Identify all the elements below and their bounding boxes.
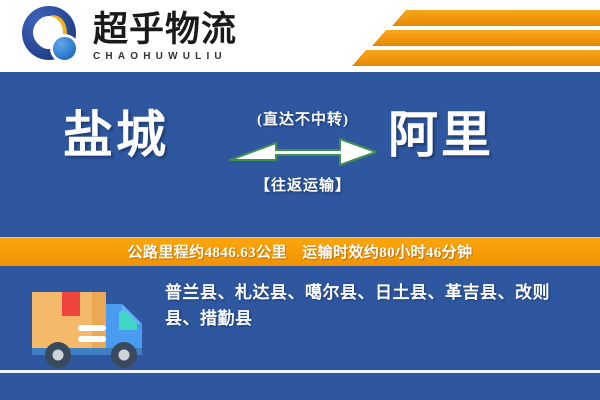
logistics-route-banner: 超乎物流 CHAOHUWULIU 盐城 (直达不中转) 【往返运输】 阿里 (0, 0, 600, 400)
bottom-divider (0, 370, 600, 373)
delivery-truck-icon (26, 278, 154, 370)
destination-city-name: 阿里 (388, 110, 494, 160)
double-headed-arrow-icon (228, 135, 378, 169)
company-logo: 超乎物流 CHAOHUWULIU (22, 6, 237, 68)
banner-body: 盐城 (直达不中转) 【往返运输】 阿里 公路里程约4846.63公里 运输时效… (0, 72, 600, 400)
route-row: 盐城 (直达不中转) 【往返运输】 阿里 (0, 72, 600, 237)
company-name-pinyin: CHAOHUWULIU (93, 51, 237, 62)
header-stripe-middle (372, 30, 600, 46)
origin-city-name: 盐城 (63, 110, 169, 160)
distance-duration-text: 公路里程约4846.63公里 运输时效约80小时46分钟 (128, 241, 473, 262)
roundtrip-note: 【往返运输】 (228, 174, 378, 195)
coverage-area: 普兰县、札达县、噶尔县、日土县、革吉县、改则县、措勤县 (0, 266, 600, 400)
chaohu-circle-logo-icon (22, 6, 84, 68)
route-middle-group: (直达不中转) 【往返运输】 (228, 108, 378, 195)
header-stripe-bottom (352, 50, 600, 66)
header-stripe-top (392, 10, 600, 26)
banner-header: 超乎物流 CHAOHUWULIU (0, 0, 600, 72)
covered-counties-list: 普兰县、札达县、噶尔县、日土县、革吉县、改则县、措勤县 (165, 280, 583, 331)
logo-accent-dot-icon (53, 37, 76, 60)
distance-duration-bar: 公路里程约4846.63公里 运输时效约80小时46分钟 (0, 237, 600, 266)
logo-wordmark: 超乎物流 CHAOHUWULIU (93, 12, 237, 62)
direct-shipping-note: (直达不中转) (228, 108, 378, 129)
company-name-cn: 超乎物流 (93, 12, 237, 48)
